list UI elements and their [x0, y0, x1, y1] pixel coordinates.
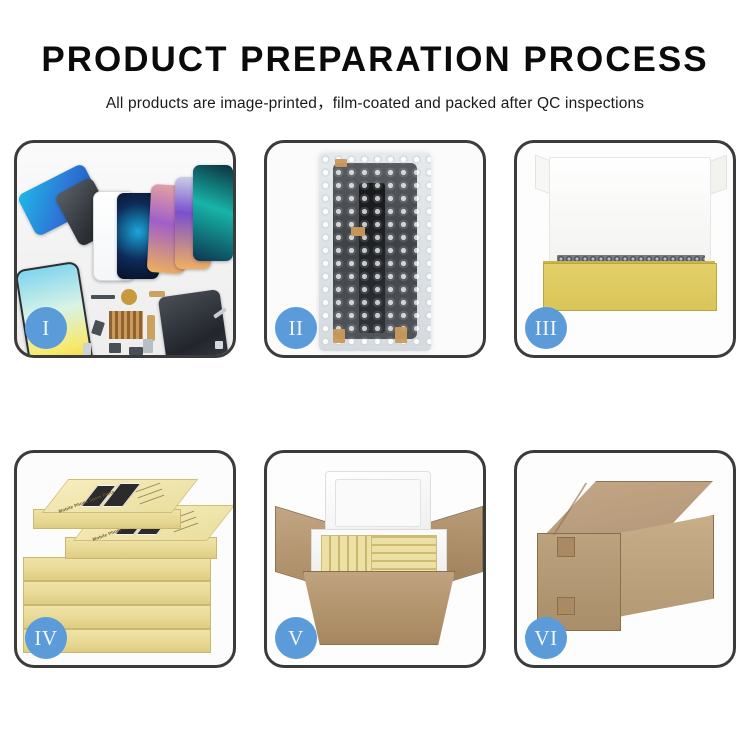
step-panel-5[interactable]: V	[264, 450, 486, 668]
tape-piece-bottom-right	[395, 327, 407, 343]
step-badge-3: III	[525, 307, 567, 349]
page-subtitle: All products are image-printed，film-coat…	[0, 77, 750, 113]
step-panel-6[interactable]: VI	[514, 450, 736, 668]
logic-board-part-icon	[109, 311, 143, 339]
foam-box-lid-inner	[335, 479, 421, 527]
small-part-a-icon	[91, 320, 105, 336]
packed-boxes-horizontal	[371, 535, 437, 577]
page-title: PRODUCT PREPARATION PROCESS	[0, 0, 750, 77]
step-panel-4[interactable]: Mobile Phone Spare Parts Mobile Phone Sp…	[14, 450, 236, 668]
header: PRODUCT PREPARATION PROCESS All products…	[0, 0, 750, 130]
step-panel-3[interactable]: III	[514, 140, 736, 358]
step-badge-6: VI	[525, 617, 567, 659]
stacked-box-4	[23, 581, 211, 605]
step-badge-4: IV	[25, 617, 67, 659]
bubble-wrap-overlay	[319, 153, 431, 351]
flex-cable-part-icon	[149, 291, 165, 297]
earpiece-part-icon	[91, 295, 115, 299]
speaker-part-icon	[121, 289, 137, 305]
step-panel-2[interactable]: II	[264, 140, 486, 358]
flex-strip-part-icon	[147, 315, 155, 341]
step-badge-1: I	[25, 307, 67, 349]
carton-front-face	[537, 533, 621, 631]
tape-piece-bottom-left	[333, 329, 345, 343]
camera-part-icon	[143, 339, 153, 353]
tape-piece-middle	[351, 227, 365, 236]
carton-tape-upper	[557, 537, 575, 557]
small-part-c-icon	[129, 347, 143, 355]
carton-tape-lower	[557, 597, 575, 615]
small-part-b-icon	[109, 343, 121, 353]
tape-piece-top	[335, 159, 347, 167]
stacked-box-3	[23, 557, 211, 581]
process-step-grid: I II III	[14, 140, 736, 685]
carton-body	[303, 571, 455, 645]
yellow-box-front	[543, 263, 717, 311]
box-lid-open	[549, 157, 711, 269]
screw-part-icon	[215, 341, 223, 349]
step-badge-5: V	[275, 617, 317, 659]
sim-tray-part-icon	[83, 343, 91, 355]
step-badge-2: II	[275, 307, 317, 349]
step-panel-1[interactable]: I	[14, 140, 236, 358]
phone-screen-teal	[193, 165, 233, 261]
